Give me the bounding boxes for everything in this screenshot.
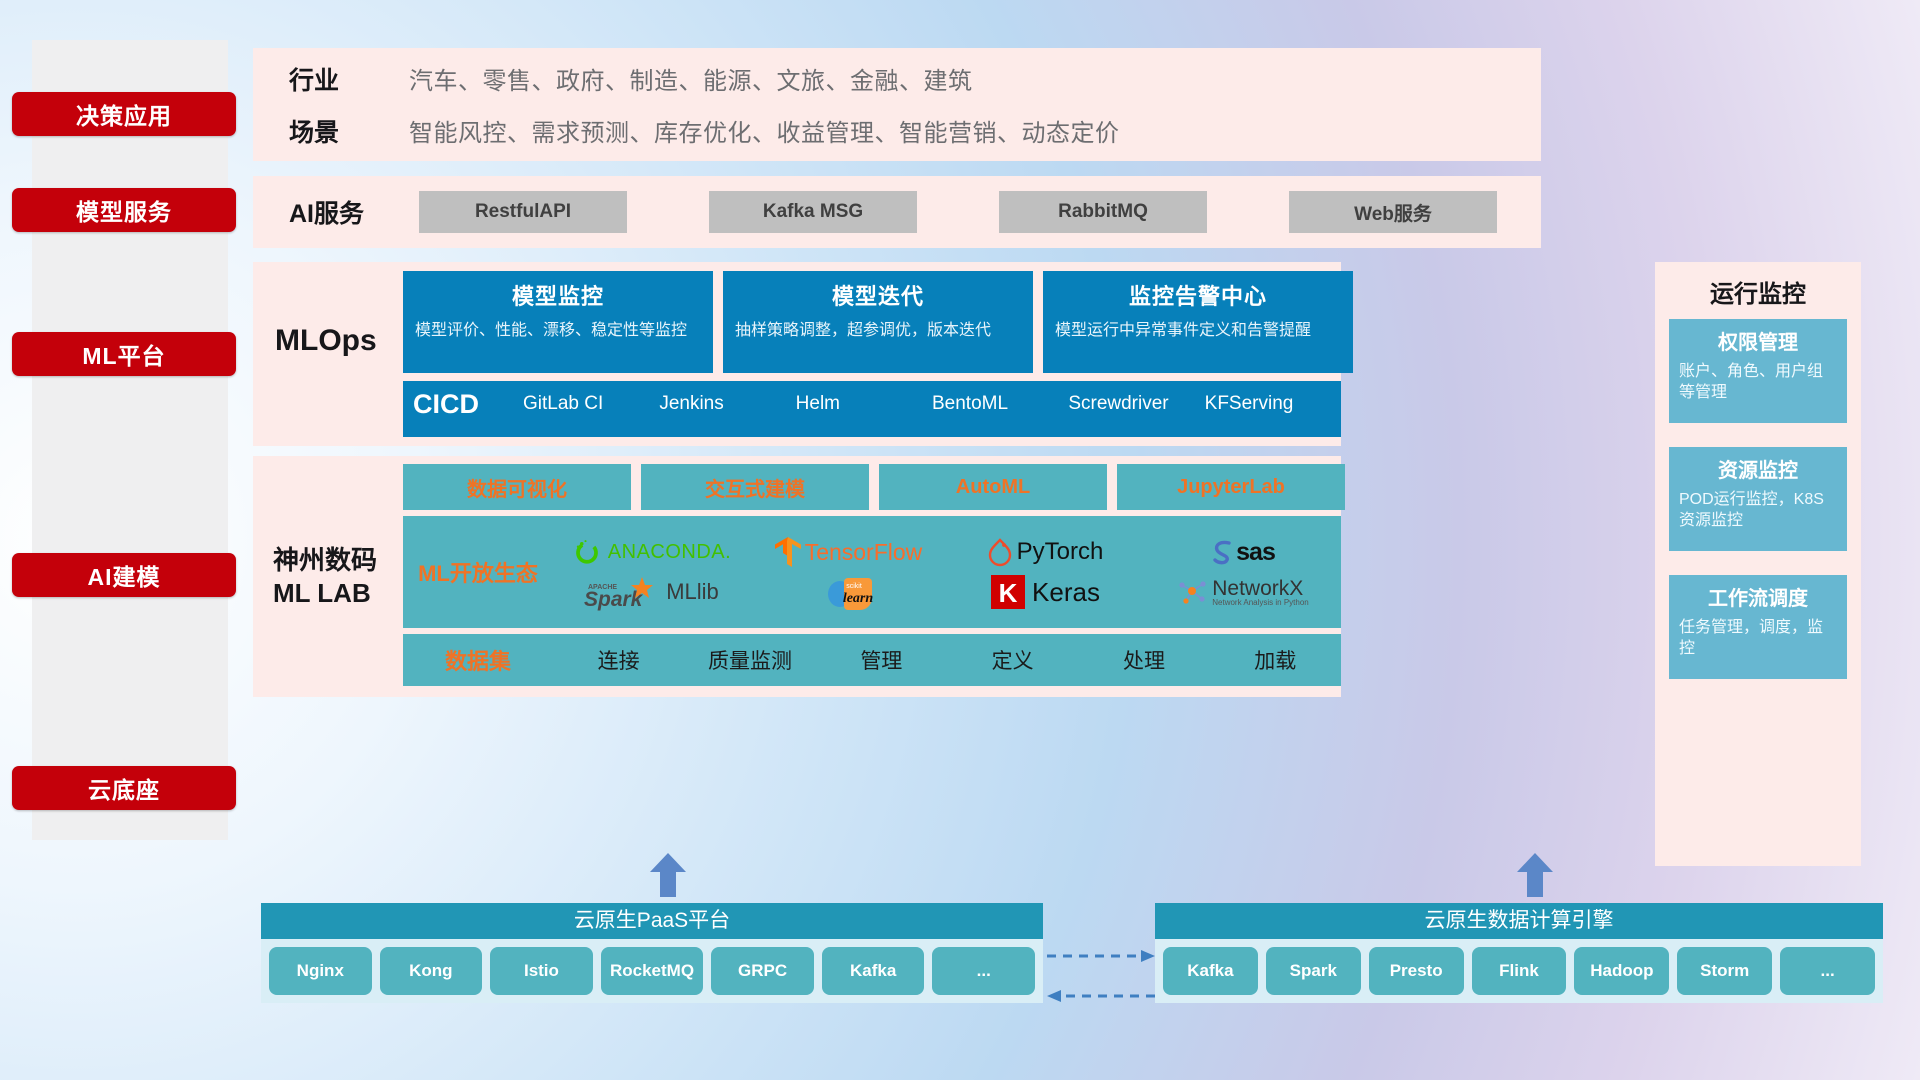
mlops-card-model-monitoring[interactable]: 模型监控 模型评价、性能、漂移、稳定性等监控 bbox=[403, 271, 713, 373]
dataset-row: 数据集 连接 质量监测 管理 定义 处理 加载 bbox=[403, 634, 1341, 686]
dataset-item-load[interactable]: 加载 bbox=[1210, 645, 1341, 675]
ml-lab-label: 神州数码 ML LAB bbox=[273, 544, 377, 611]
tab-label: 数据可视化 bbox=[467, 473, 567, 502]
paas-chip-kong[interactable]: Kong bbox=[380, 947, 483, 995]
runtime-monitor-panel: 运行监控 权限管理 账户、角色、用户组等管理 资源监控 POD运行监控，K8S资… bbox=[1655, 262, 1861, 866]
tab-label: AutoML bbox=[956, 476, 1030, 499]
bidirectional-connector-icon bbox=[1043, 940, 1159, 1010]
dataset-item-define[interactable]: 定义 bbox=[947, 645, 1078, 675]
arrow-up-compute-icon bbox=[1515, 853, 1555, 897]
card-title: 模型监控 bbox=[415, 279, 701, 311]
service-chip-label: RabbitMQ bbox=[1058, 201, 1148, 223]
industry-value: 汽车、零售、政府、制造、能源、文旅、金融、建筑 bbox=[409, 61, 973, 96]
compute-chip-presto[interactable]: Presto bbox=[1369, 947, 1464, 995]
ml-ecosystem-row: ML开放生态 ANACONDA. bbox=[403, 516, 1341, 628]
ai-service-label: AI服务 bbox=[289, 194, 419, 230]
cicd-item-jenkins[interactable]: Jenkins bbox=[659, 381, 795, 416]
compute-chip-flink[interactable]: Flink bbox=[1472, 947, 1567, 995]
industry-row: 行业 汽车、零售、政府、制造、能源、文旅、金融、建筑 bbox=[289, 61, 1541, 97]
lab-tab-interactive-modeling[interactable]: 交互式建模 bbox=[641, 464, 869, 510]
service-chip-rabbitmq[interactable]: RabbitMQ bbox=[999, 191, 1207, 233]
service-chip-label: Kafka MSG bbox=[763, 201, 863, 223]
spark-mllib-logo: APACHE Spark MLlib bbox=[584, 575, 719, 609]
cicd-item-bentoml[interactable]: BentoML bbox=[932, 381, 1068, 416]
service-chip-restfulapi[interactable]: RestfulAPI bbox=[419, 191, 627, 233]
rail-label: 模型服务 bbox=[76, 193, 172, 227]
cicd-title: CICD bbox=[403, 381, 523, 420]
card-desc: 模型评价、性能、漂移、稳定性等监控 bbox=[415, 320, 701, 342]
compute-chip-more[interactable]: ... bbox=[1780, 947, 1875, 995]
rail-item-decision-app[interactable]: 决策应用 bbox=[12, 92, 236, 136]
cell-desc: POD运行监控，K8S资源监控 bbox=[1679, 489, 1837, 532]
pytorch-logo: PyTorch bbox=[988, 538, 1104, 566]
cloud-group-paas: 云原生PaaS平台 Nginx Kong Istio RocketMQ GRPC… bbox=[261, 903, 1043, 1003]
ml-lab-panel: 神州数码 ML LAB 数据可视化 交互式建模 AutoML JupyterLa… bbox=[253, 456, 1341, 697]
scenario-value: 智能风控、需求预测、库存优化、收益管理、智能营销、动态定价 bbox=[409, 113, 1120, 148]
cell-title: 权限管理 bbox=[1679, 326, 1837, 355]
monitor-cell-workflow[interactable]: 工作流调度 任务管理，调度，监控 bbox=[1669, 575, 1847, 679]
paas-chip-nginx[interactable]: Nginx bbox=[269, 947, 372, 995]
monitor-cell-permission[interactable]: 权限管理 账户、角色、用户组等管理 bbox=[1669, 319, 1847, 423]
tab-label: JupyterLab bbox=[1177, 476, 1285, 499]
lab-tab-jupyterlab[interactable]: JupyterLab bbox=[1117, 464, 1345, 510]
compute-chip-row: Kafka Spark Presto Flink Hadoop Storm ..… bbox=[1155, 939, 1883, 1003]
cicd-item-screwdriver[interactable]: Screwdriver bbox=[1068, 381, 1204, 416]
keras-logo: K Keras bbox=[991, 575, 1100, 609]
paas-chip-grpc[interactable]: GRPC bbox=[711, 947, 814, 995]
lab-tab-data-visualization[interactable]: 数据可视化 bbox=[403, 464, 631, 510]
rail-label: 决策应用 bbox=[76, 97, 172, 131]
dataset-item-manage[interactable]: 管理 bbox=[816, 645, 947, 675]
networkx-logo: NetworkX Network Analysis in Python bbox=[1176, 577, 1309, 607]
dataset-label: 数据集 bbox=[403, 644, 553, 676]
sas-logo: sas bbox=[1210, 538, 1275, 567]
cell-title: 工作流调度 bbox=[1679, 582, 1837, 611]
rail-label: 云底座 bbox=[88, 771, 160, 805]
dataset-item-connect[interactable]: 连接 bbox=[553, 645, 684, 675]
rail-item-model-service[interactable]: 模型服务 bbox=[12, 188, 236, 232]
svg-text:scikit: scikit bbox=[846, 583, 862, 590]
cell-desc: 账户、角色、用户组等管理 bbox=[1679, 361, 1837, 404]
scenario-row: 场景 智能风控、需求预测、库存优化、收益管理、智能营销、动态定价 bbox=[289, 113, 1541, 149]
rail-item-cloud-base[interactable]: 云底座 bbox=[12, 766, 236, 810]
ml-ecosystem-label: ML开放生态 bbox=[403, 556, 553, 588]
rail-label: AI建模 bbox=[88, 558, 161, 592]
monitor-cell-resource[interactable]: 资源监控 POD运行监控，K8S资源监控 bbox=[1669, 447, 1847, 551]
tab-label: 交互式建模 bbox=[705, 473, 805, 502]
paas-chip-istio[interactable]: Istio bbox=[490, 947, 593, 995]
cell-title: 资源监控 bbox=[1679, 454, 1837, 483]
mlops-panel: MLOps 模型监控 模型评价、性能、漂移、稳定性等监控 模型迭代 抽样策略调整… bbox=[253, 262, 1341, 446]
compute-title: 云原生数据计算引擎 bbox=[1155, 903, 1883, 939]
compute-chip-spark[interactable]: Spark bbox=[1266, 947, 1361, 995]
dataset-item-process[interactable]: 处理 bbox=[1078, 645, 1209, 675]
application-layer-panel: 行业 汽车、零售、政府、制造、能源、文旅、金融、建筑 场景 智能风控、需求预测、… bbox=[253, 48, 1541, 161]
anaconda-logo: ANACONDA. bbox=[572, 537, 731, 567]
lab-tab-automl[interactable]: AutoML bbox=[879, 464, 1107, 510]
compute-chip-hadoop[interactable]: Hadoop bbox=[1574, 947, 1669, 995]
paas-chip-kafka[interactable]: Kafka bbox=[822, 947, 925, 995]
card-desc: 模型运行中异常事件定义和告警提醒 bbox=[1055, 320, 1341, 342]
arrow-up-paas-icon bbox=[648, 853, 688, 897]
card-title: 模型迭代 bbox=[735, 279, 1021, 311]
service-chip-web-service[interactable]: Web服务 bbox=[1289, 191, 1497, 233]
ml-lab-label-line1: 神州数码 bbox=[273, 544, 377, 577]
cicd-item-kfserving[interactable]: KFServing bbox=[1205, 381, 1341, 416]
cell-desc: 任务管理，调度，监控 bbox=[1679, 617, 1837, 660]
compute-chip-kafka[interactable]: Kafka bbox=[1163, 947, 1258, 995]
cloud-group-compute: 云原生数据计算引擎 Kafka Spark Presto Flink Hadoo… bbox=[1155, 903, 1883, 1003]
rail-item-ml-platform[interactable]: ML平台 bbox=[12, 332, 236, 376]
rail-label: ML平台 bbox=[82, 337, 165, 371]
card-title: 监控告警中心 bbox=[1055, 279, 1341, 311]
service-chip-label: Web服务 bbox=[1354, 199, 1432, 226]
service-chip-label: RestfulAPI bbox=[475, 201, 571, 223]
networkx-tagline: Network Analysis in Python bbox=[1212, 599, 1309, 607]
industry-label: 行业 bbox=[289, 61, 409, 97]
ml-lab-label-line2: ML LAB bbox=[273, 577, 377, 610]
scenario-label: 场景 bbox=[289, 113, 409, 149]
svg-text:K: K bbox=[999, 578, 1018, 608]
mlops-label: MLOps bbox=[275, 324, 405, 358]
cicd-row: CICD GitLab CI Jenkins Helm BentoML Scre… bbox=[403, 381, 1341, 437]
rail-item-ai-modeling[interactable]: AI建模 bbox=[12, 553, 236, 597]
cicd-item-gitlab-ci[interactable]: GitLab CI bbox=[523, 381, 659, 416]
svg-text:learn: learn bbox=[842, 591, 873, 606]
paas-chip-row: Nginx Kong Istio RocketMQ GRPC Kafka ... bbox=[261, 939, 1043, 1003]
mlops-card-model-iteration[interactable]: 模型迭代 抽样策略调整，超参调优，版本迭代 bbox=[723, 271, 1033, 373]
dataset-item-quality[interactable]: 质量监测 bbox=[684, 645, 815, 675]
service-chip-kafka-msg[interactable]: Kafka MSG bbox=[709, 191, 917, 233]
paas-title: 云原生PaaS平台 bbox=[261, 903, 1043, 939]
mlops-card-alert-center[interactable]: 监控告警中心 模型运行中异常事件定义和告警提醒 bbox=[1043, 271, 1353, 373]
compute-chip-storm[interactable]: Storm bbox=[1677, 947, 1772, 995]
tensorflow-logo: TensorFlow bbox=[775, 537, 923, 567]
runtime-monitor-title: 运行监控 bbox=[1655, 262, 1861, 319]
ai-service-panel: AI服务 RestfulAPI Kafka MSG RabbitMQ Web服务 bbox=[253, 176, 1541, 248]
architecture-diagram: 决策应用 模型服务 ML平台 AI建模 云底座 行业 汽车、零售、政府、制造、能… bbox=[0, 0, 1920, 1080]
svg-text:Spark: Spark bbox=[584, 588, 644, 611]
card-desc: 抽样策略调整，超参调优，版本迭代 bbox=[735, 320, 1021, 342]
paas-chip-rocketmq[interactable]: RocketMQ bbox=[601, 947, 704, 995]
cicd-item-helm[interactable]: Helm bbox=[796, 381, 932, 416]
scikit-learn-logo: scikit learn bbox=[826, 572, 872, 612]
left-rail-background bbox=[32, 40, 228, 840]
paas-chip-more[interactable]: ... bbox=[932, 947, 1035, 995]
